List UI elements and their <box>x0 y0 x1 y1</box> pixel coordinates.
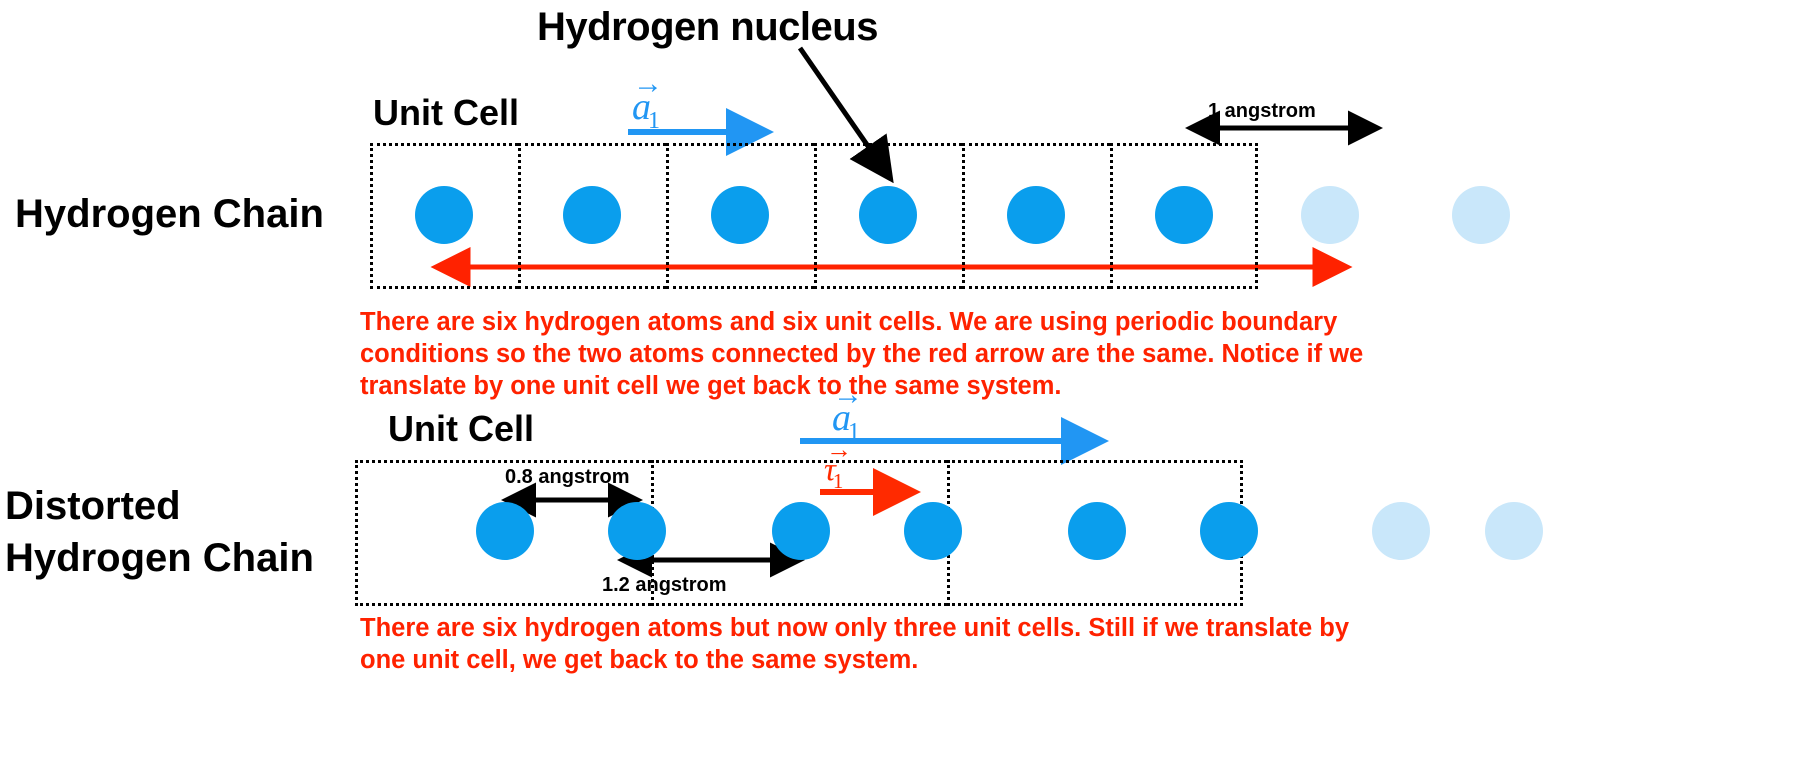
lattice-vector-label-bottom: → a1 <box>832 396 863 440</box>
lattice-vector-subscript-top: 1 <box>648 108 660 134</box>
lattice-vector-label-top: → a1 <box>632 85 663 129</box>
unit-cell-box <box>947 460 1243 606</box>
row-label-distorted-chain: Distorted Hydrogen Chain <box>5 480 314 584</box>
unit-cell-box <box>1110 143 1258 289</box>
unit-cell-label-bottom: Unit Cell <box>388 408 534 450</box>
hydrogen-atom-faded <box>1485 502 1543 560</box>
row-label-hydrogen-chain: Hydrogen Chain <box>15 192 324 237</box>
unit-cell-box <box>355 460 651 606</box>
unit-cell-box <box>962 143 1110 289</box>
row-label-distorted-line2: Hydrogen Chain <box>5 532 314 584</box>
row-label-distorted-line1: Distorted <box>5 480 314 532</box>
unit-cell-row-top <box>370 143 1258 289</box>
hydrogen-atom-faded <box>1301 186 1359 244</box>
page-title: Hydrogen nucleus <box>537 5 878 50</box>
unit-cell-box <box>370 143 518 289</box>
unit-cell-row-bottom <box>355 460 1243 606</box>
unit-cell-box <box>666 143 814 289</box>
unit-cell-label-top: Unit Cell <box>373 92 519 134</box>
hydrogen-atom-faded <box>1372 502 1430 560</box>
hydrogen-atom-faded <box>1452 186 1510 244</box>
unit-cell-box <box>651 460 947 606</box>
note-hydrogen-chain: There are six hydrogen atoms and six uni… <box>360 306 1390 402</box>
unit-cell-box <box>518 143 666 289</box>
unit-cell-box <box>814 143 962 289</box>
measurement-label-1-angstrom: 1 angstrom <box>1208 100 1316 123</box>
note-distorted-chain: There are six hydrogen atoms but now onl… <box>360 612 1370 676</box>
